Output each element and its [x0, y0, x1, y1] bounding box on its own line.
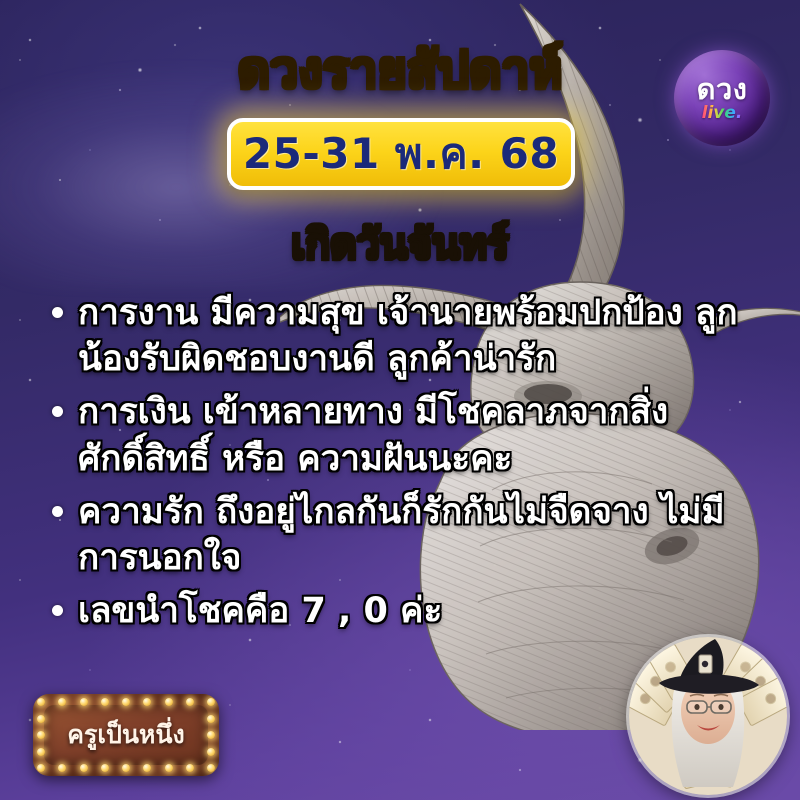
bullet-dot-icon [52, 307, 63, 318]
list-item: ความรัก ถึงอยู่ไกลกันก็รักกันไม่จืดจาง ไ… [52, 489, 764, 581]
plaque-bulb-icon [101, 698, 109, 706]
plaque-bulb-icon [207, 764, 215, 772]
plaque-bulb-icon [186, 698, 194, 706]
plaque-bulb-icon [37, 764, 45, 772]
plaque-bulb-icon [122, 764, 130, 772]
avatar[interactable] [629, 637, 787, 795]
plaque-bulb-icon [165, 698, 173, 706]
list-item: การเงิน เข้าหลายทาง มีโชคลาภจากสิ่งศักดิ… [52, 389, 764, 481]
forecast-list: การงาน มีความสุข เจ้านายพร้อมปกป้อง ลูกน… [52, 290, 764, 641]
birth-day-text: เกิดวันจันทร์ [291, 220, 509, 268]
plaque-bulb-icon [37, 748, 45, 756]
birth-day-subtitle: เกิดวันจันทร์ [0, 222, 800, 267]
list-item: การงาน มีความสุข เจ้านายพร้อมปกป้อง ลูกน… [52, 290, 764, 382]
author-badge-label: ครูเป็นหนึ่ง [67, 715, 184, 755]
list-item-text: ความรัก ถึงอยู่ไกลกันก็รักกันไม่จืดจาง ไ… [78, 489, 764, 581]
plaque-bulb-icon [37, 698, 45, 706]
plaque-bulb-icon [80, 764, 88, 772]
plaque-bulb-icon [58, 764, 66, 772]
plaque-bulb-icon [207, 748, 215, 756]
plaque-bulb-icon [122, 698, 130, 706]
date-range-banner: 25-31 พ.ค. 68 [227, 118, 575, 190]
plaque-bulb-icon [186, 764, 194, 772]
logo-live-text: live. [702, 105, 743, 122]
bullet-dot-icon [52, 506, 63, 517]
bullet-dot-icon [52, 605, 63, 616]
list-item: เลขนำโชคคือ 7 , 0 ค่ะ [52, 588, 764, 634]
bullet-dot-icon [52, 406, 63, 417]
author-badge[interactable]: ครูเป็นหนึ่ง [33, 694, 219, 776]
list-item-text: การเงิน เข้าหลายทาง มีโชคลาภจากสิ่งศักดิ… [78, 389, 764, 481]
list-item-text: เลขนำโชคคือ 7 , 0 ค่ะ [78, 588, 764, 634]
plaque-bulb-icon [207, 715, 215, 723]
plaque-bulb-icon [207, 731, 215, 739]
plaque-bulb-icon [165, 764, 173, 772]
plaque-bulb-icon [101, 764, 109, 772]
page-title: ดวงรายสัปดาห์ [0, 44, 800, 97]
plaque-bulb-icon [37, 731, 45, 739]
page-title-text: ดวงรายสัปดาห์ [238, 41, 563, 99]
plaque-bulb-icon [37, 715, 45, 723]
horoscope-card: ดวง live. ดวงรายสัปดาห์ 25-31 พ.ค. 68 เก… [0, 0, 800, 800]
plaque-bulb-icon [80, 698, 88, 706]
plaque-bulb-icon [207, 698, 215, 706]
list-item-text: การงาน มีความสุข เจ้านายพร้อมปกป้อง ลูกน… [78, 290, 764, 382]
date-range-text: 25-31 พ.ค. 68 [243, 121, 559, 187]
plaque-bulb-icon [143, 764, 151, 772]
